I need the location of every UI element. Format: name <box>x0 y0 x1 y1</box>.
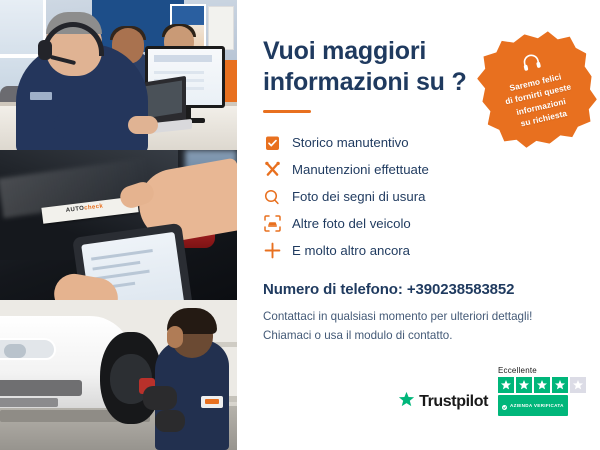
plus-icon <box>263 242 281 260</box>
feature-label: Altre foto del veicolo <box>292 216 411 231</box>
mechanic-glove-lower <box>155 410 185 432</box>
mechanic-glove-upper <box>143 386 177 410</box>
photo-sticker-application: AUTOcheck <box>0 150 237 300</box>
promo-card: AUTOcheck <box>0 0 600 450</box>
contact-blurb: Contattaci in qualsiasi momento per ulte… <box>263 308 578 345</box>
title-divider <box>263 110 311 113</box>
star-filled <box>516 377 532 393</box>
wall-notice <box>208 6 234 50</box>
verified-check-icon <box>502 397 507 415</box>
headlight <box>0 338 56 360</box>
feature-label: Manutenzioni effettuate <box>292 162 429 177</box>
trustpilot-rating-block: Eccellente <box>498 366 586 416</box>
front-grille <box>0 380 82 396</box>
agent-hand <box>128 116 158 134</box>
phone-label: Numero di telefono: <box>263 281 403 298</box>
photo-call-center <box>0 0 237 150</box>
screen-toolbar <box>154 55 212 62</box>
trustpilot-rating-word: Eccellente <box>498 366 537 375</box>
feature-item-manutenzioni-effettuate: Manutenzioni effettuate <box>263 156 578 183</box>
feature-list: Storico manutentivo Manutenzioni effettu… <box>263 129 578 264</box>
agent-name-badge <box>30 92 52 100</box>
clipboard-check-icon <box>263 134 281 152</box>
uniform-logo <box>201 396 223 408</box>
tablet-text-line <box>92 261 140 271</box>
photo-column: AUTOcheck <box>0 0 237 450</box>
feature-item-molto-altro: E molto altro ancora <box>263 237 578 264</box>
trustpilot-widget[interactable]: Trustpilot Eccellente <box>398 366 586 416</box>
headlight-inner <box>4 344 26 358</box>
feature-item-altre-foto-veicolo: Altre foto del veicolo <box>263 210 578 237</box>
lower-grille <box>0 398 58 407</box>
star-filled <box>552 377 568 393</box>
magnifier-icon <box>263 188 281 206</box>
page-title: Vuoi maggiori informazioni su ? <box>263 36 478 97</box>
feature-label: E molto altro ancora <box>292 243 410 258</box>
trustpilot-name: Trustpilot <box>419 393 488 411</box>
tablet-text-line <box>91 249 153 261</box>
star-filled <box>534 377 550 393</box>
feature-label: Storico manutentivo <box>292 135 409 150</box>
content-panel: Vuoi maggiori informazioni su ? Storico … <box>237 0 600 450</box>
feature-item-foto-segni-usura: Foto dei segni di usura <box>263 183 578 210</box>
trustpilot-stars <box>498 377 586 393</box>
car-scan-frame-icon <box>263 215 281 233</box>
verified-business-badge: AZIENDA VERIFICATA <box>498 395 568 416</box>
photo-wheel-inspection <box>0 300 237 450</box>
blurb-line-2: Chiamaci o usa il modulo di contatto. <box>263 327 578 346</box>
star-filled <box>498 377 514 393</box>
phone-line: Numero di telefono: +390238583852 <box>263 281 578 298</box>
trustpilot-brand: Trustpilot <box>398 391 488 416</box>
verified-label: AZIENDA VERIFICATA <box>510 403 564 408</box>
feature-label: Foto dei segni di usura <box>292 189 425 204</box>
star-partial <box>570 377 586 393</box>
trustpilot-star-icon <box>398 391 415 413</box>
tools-cross-icon <box>263 161 281 179</box>
sticker-label: AUTOcheck <box>66 203 104 214</box>
mechanic-face <box>167 326 183 348</box>
blurb-line-1: Contattaci in qualsiasi momento per ulte… <box>263 308 578 327</box>
screen-row <box>154 71 204 74</box>
phone-number[interactable]: +390238583852 <box>407 281 515 298</box>
